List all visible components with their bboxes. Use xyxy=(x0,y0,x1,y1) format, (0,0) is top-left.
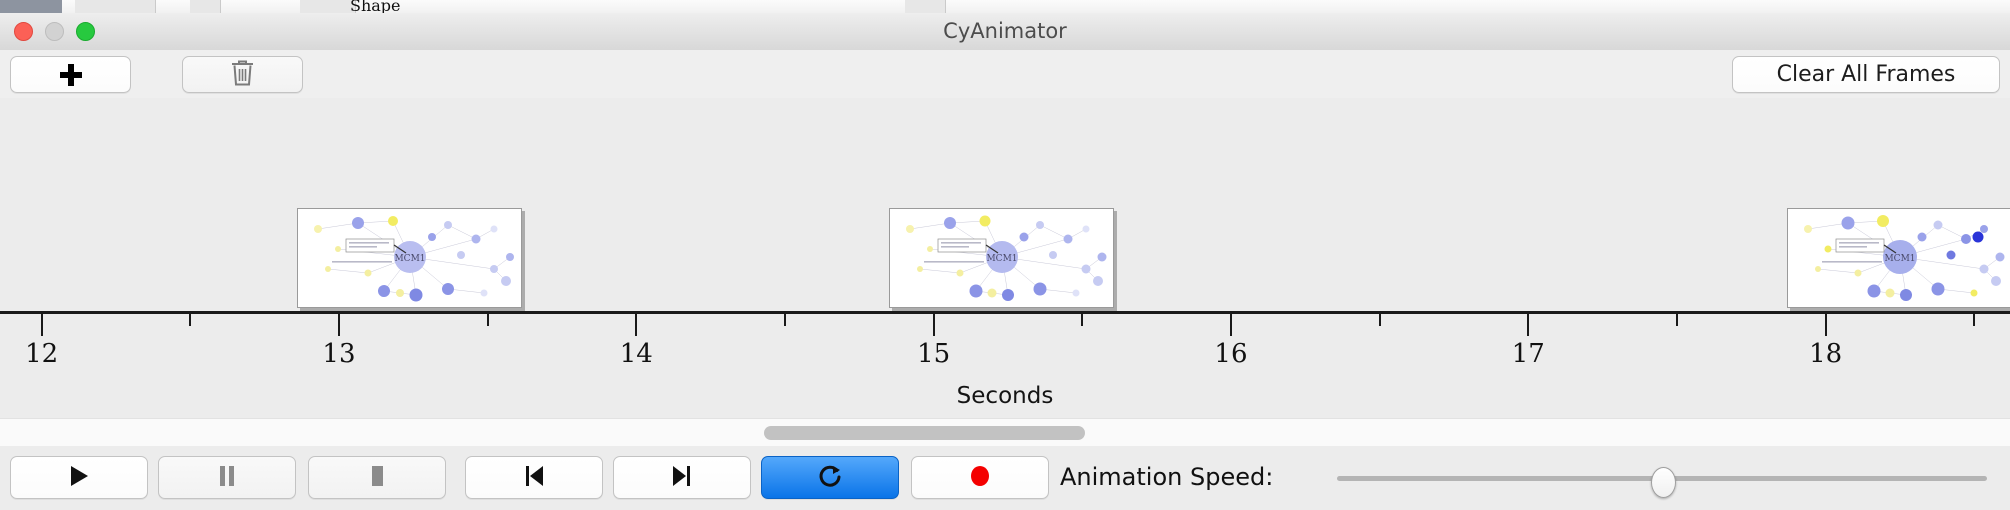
axis-tick-major xyxy=(338,314,340,336)
network-graph-preview: MCM1 xyxy=(298,209,521,307)
axis-tick-label: 14 xyxy=(620,339,653,369)
axis-tick-label: 15 xyxy=(917,339,950,369)
frame-thumbnail[interactable]: MCM1 xyxy=(889,208,1114,308)
network-graph-preview: MCM1 xyxy=(890,209,1113,307)
svg-text:MCM1: MCM1 xyxy=(1884,254,1915,264)
animation-speed-label: Animation Speed: xyxy=(1060,456,1273,499)
timeline-axis: 12131415161718 Seconds xyxy=(0,311,2010,418)
axis-tick-minor xyxy=(487,314,489,326)
add-frame-button[interactable] xyxy=(10,56,131,93)
play-button[interactable] xyxy=(10,456,148,499)
stop-icon xyxy=(366,464,388,492)
pause-icon xyxy=(216,464,238,492)
skip-forward-button[interactable] xyxy=(613,456,751,499)
axis-tick-label: 18 xyxy=(1809,339,1842,369)
background-window-sliver: Shape xyxy=(0,0,2010,14)
axis-tick-label: 13 xyxy=(322,339,355,369)
skip-back-icon xyxy=(522,464,546,492)
play-icon xyxy=(68,464,90,492)
timeline-track[interactable]: MCM1 xyxy=(0,98,2010,312)
timeline-scrollbar[interactable] xyxy=(0,418,2010,448)
axis-tick-minor xyxy=(1081,314,1083,326)
playback-controls: Animation Speed: xyxy=(0,446,2010,510)
skip-back-button[interactable] xyxy=(465,456,603,499)
loop-button[interactable] xyxy=(761,456,899,499)
animation-speed-slider-thumb[interactable] xyxy=(1651,467,1676,498)
axis-tick-minor xyxy=(784,314,786,326)
trash-icon xyxy=(230,59,255,91)
delete-frame-button[interactable] xyxy=(182,56,303,93)
svg-text:MCM1: MCM1 xyxy=(986,254,1017,264)
background-chip-b xyxy=(190,0,221,13)
skip-forward-icon xyxy=(670,464,694,492)
background-chip-d xyxy=(905,0,946,13)
axis-baseline xyxy=(0,311,2010,314)
axis-tick-label: 16 xyxy=(1214,339,1247,369)
background-chip-a xyxy=(75,0,156,13)
window-title: CyAnimator xyxy=(0,13,2010,50)
axis-tick-minor xyxy=(1973,314,1975,326)
background-window-titlebar-chip xyxy=(0,0,62,13)
background-window-text: Shape xyxy=(350,0,401,14)
svg-text:MCM1: MCM1 xyxy=(394,254,425,264)
axis-tick-major xyxy=(635,314,637,336)
record-icon xyxy=(968,464,992,492)
loop-icon xyxy=(817,463,843,493)
clear-all-frames-button[interactable]: Clear All Frames xyxy=(1732,56,2000,93)
pause-button[interactable] xyxy=(158,456,296,499)
axis-tick-minor xyxy=(1379,314,1381,326)
axis-tick-major xyxy=(933,314,935,336)
stop-button[interactable] xyxy=(308,456,446,499)
title-bar: CyAnimator xyxy=(0,13,2010,51)
toolbar: Clear All Frames xyxy=(0,50,2010,99)
axis-tick-label: 17 xyxy=(1512,339,1545,369)
axis-tick-major xyxy=(1825,314,1827,336)
background-chip-c xyxy=(300,0,356,13)
network-graph-preview: MCM1 xyxy=(1788,209,2010,307)
axis-tick-major xyxy=(41,314,43,336)
record-button[interactable] xyxy=(911,456,1049,499)
frame-thumbnail[interactable]: MCM1 xyxy=(297,208,522,308)
axis-tick-label: 12 xyxy=(25,339,58,369)
axis-tick-minor xyxy=(189,314,191,326)
axis-tick-minor xyxy=(1676,314,1678,326)
frame-thumbnail[interactable]: MCM1 xyxy=(1787,208,2010,308)
cyanimator-window: Shape CyAnimator xyxy=(0,0,2010,510)
scrollbar-thumb[interactable] xyxy=(764,426,1086,440)
axis-title: Seconds xyxy=(0,383,2010,409)
axis-tick-major xyxy=(1527,314,1529,336)
plus-icon xyxy=(58,62,84,88)
axis-tick-major xyxy=(1230,314,1232,336)
